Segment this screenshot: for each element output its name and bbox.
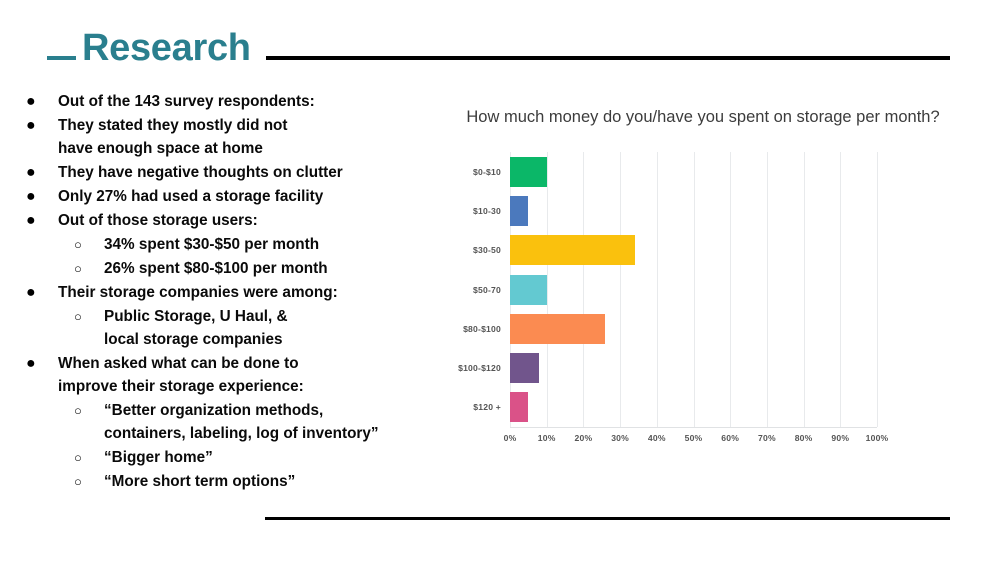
bullet-text: Their storage companies were among: [58,281,338,304]
bullet-circle-icon: ○ [74,446,104,469]
bullet-circle-icon: ○ [74,233,104,256]
chart-bar [510,392,528,422]
chart-x-tick-label: 50% [685,433,703,443]
chart-x-axis-labels: 0%10%20%30%40%50%60%70%80%90%100% [510,433,890,449]
bullet-circle-icon: ○ [74,399,104,422]
bullet-text: Public Storage, U Haul, & local storage … [104,305,288,351]
bullet-text: “Better organization methods, containers… [104,399,379,445]
bullet-disc-icon: ● [26,114,58,137]
bullet-text: 26% spent $80-$100 per month [104,257,328,280]
bullet-item: ●Their storage companies were among: [26,281,426,304]
bullet-text: “Bigger home” [104,446,213,469]
chart-x-tick-label: 30% [611,433,629,443]
chart-bar [510,235,635,265]
bullet-text: Out of those storage users: [58,209,258,232]
chart-x-tick-label: 60% [721,433,739,443]
bullet-item: ○34% spent $30-$50 per month [26,233,426,256]
bullet-item: ●They stated they mostly did not have en… [26,114,426,160]
chart-gridline [804,152,805,427]
chart-gridline [547,152,548,427]
bullet-text: “More short term options” [104,470,295,493]
bullet-disc-icon: ● [26,281,58,304]
chart-x-tick-label: 20% [574,433,592,443]
bullet-text: They have negative thoughts on clutter [58,161,343,184]
chart-bar [510,314,605,344]
chart-gridline [877,152,878,427]
chart-gridline [657,152,658,427]
bullet-item: ●Out of the 143 survey respondents: [26,90,426,113]
chart-title: How much money do you/have you spent on … [423,108,983,127]
chart-bar [510,157,547,187]
chart-x-tick-label: 10% [538,433,556,443]
bullet-disc-icon: ● [26,352,58,375]
bullet-circle-icon: ○ [74,470,104,493]
chart-gridline [694,152,695,427]
page-title: Research [82,26,251,70]
chart-plot-wrapper: $0-$10$10-30$30-50$50-70$80-$100$100-$12… [415,152,985,452]
chart-x-tick-label: 40% [648,433,666,443]
chart-y-tick-label: $50-70 [473,285,501,295]
footer-horizontal-rule [265,517,950,520]
bullet-item: ○26% spent $80-$100 per month [26,257,426,280]
chart-gridline [620,152,621,427]
chart-bar [510,275,547,305]
bullet-item: ●They have negative thoughts on clutter [26,161,426,184]
chart-gridline [730,152,731,427]
chart-y-axis-labels: $0-$10$10-30$30-50$50-70$80-$100$100-$12… [415,152,508,427]
bullet-item: ○“Better organization methods, container… [26,399,426,445]
bullet-text: They stated they mostly did not have eno… [58,114,287,160]
bullet-item: ○“More short term options” [26,470,426,493]
bullet-text: When asked what can be done to improve t… [58,352,304,398]
research-bullet-list: ●Out of the 143 survey respondents:●They… [26,90,426,494]
bullet-disc-icon: ● [26,185,58,208]
bullet-text: Only 27% had used a storage facility [58,185,323,208]
chart-x-tick-label: 0% [504,433,517,443]
bullet-disc-icon: ● [26,161,58,184]
bullet-item: ●When asked what can be done to improve … [26,352,426,398]
chart-axis-baseline [510,427,877,428]
chart-plot-area [510,152,877,427]
chart-bar [510,196,528,226]
storage-spend-bar-chart: How much money do you/have you spent on … [415,100,985,460]
title-horizontal-rule [266,56,950,60]
bullet-text: Out of the 143 survey respondents: [58,90,315,113]
chart-y-tick-label: $100-$120 [458,363,501,373]
bullet-disc-icon: ● [26,209,58,232]
chart-gridline [840,152,841,427]
bullet-item: ○“Bigger home” [26,446,426,469]
bullet-circle-icon: ○ [74,257,104,280]
chart-gridline [583,152,584,427]
bullet-item: ○Public Storage, U Haul, & local storage… [26,305,426,351]
bullet-item: ●Only 27% had used a storage facility [26,185,426,208]
chart-x-tick-label: 70% [758,433,776,443]
chart-x-tick-label: 100% [866,433,889,443]
bullet-circle-icon: ○ [74,305,104,328]
chart-y-tick-label: $80-$100 [463,324,501,334]
chart-bar [510,353,539,383]
title-dash-decoration [47,56,76,60]
chart-y-tick-label: $30-50 [473,245,501,255]
bullet-disc-icon: ● [26,90,58,113]
chart-x-tick-label: 90% [831,433,849,443]
bullet-text: 34% spent $30-$50 per month [104,233,319,256]
chart-y-tick-label: $120 + [473,402,501,412]
bullet-item: ●Out of those storage users: [26,209,426,232]
chart-y-tick-label: $10-30 [473,206,501,216]
chart-x-tick-label: 80% [795,433,813,443]
chart-gridline [767,152,768,427]
slide-header: Research [0,14,1000,72]
chart-y-tick-label: $0-$10 [473,167,501,177]
